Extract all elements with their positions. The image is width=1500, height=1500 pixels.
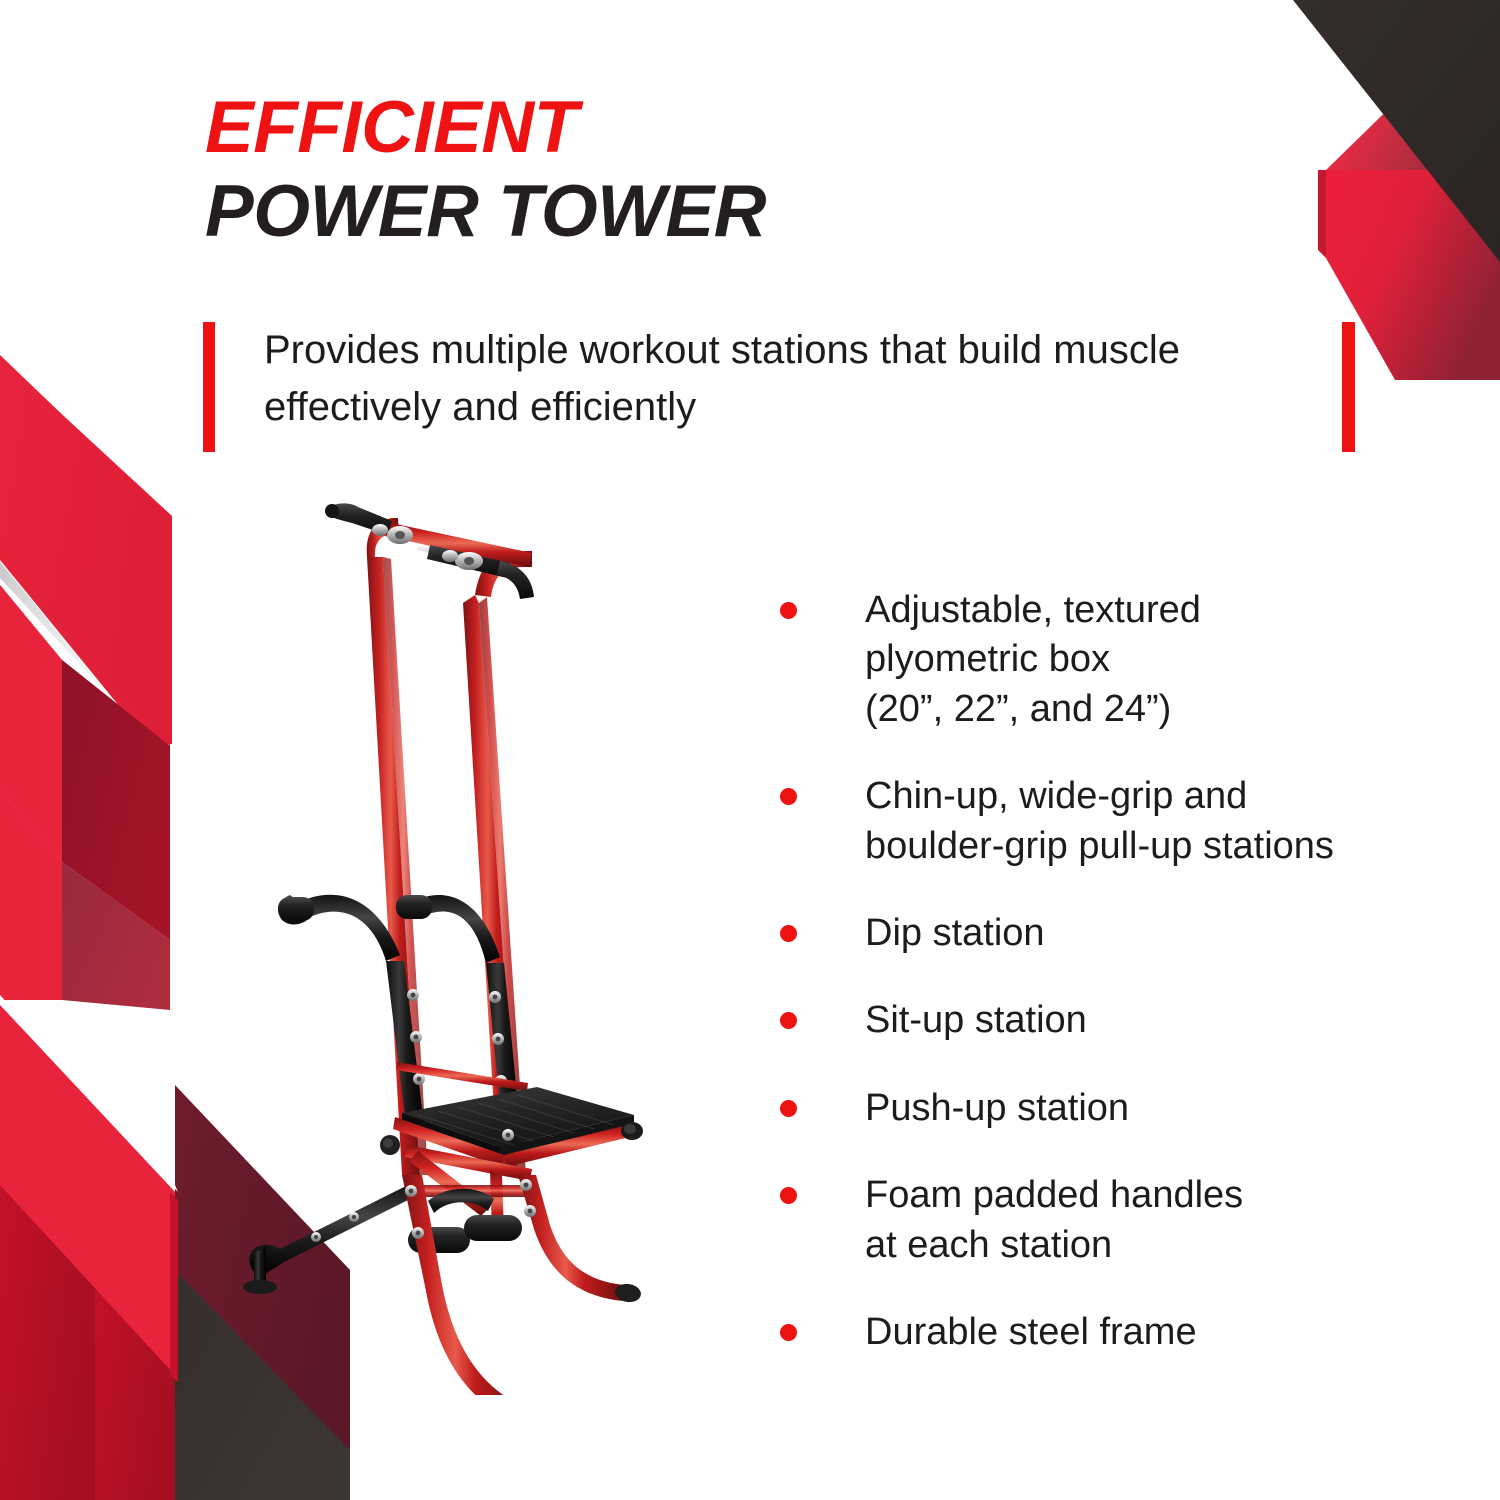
list-item: Dip station: [780, 909, 1440, 958]
top-right-dark-triangle: [1286, 0, 1500, 272]
headline: EFFICIENT POWER TOWER: [205, 88, 1205, 253]
ribbon-gap-highlight: [0, 560, 166, 758]
bullet-icon: [780, 1100, 797, 1117]
bottom-left-bright-red-ribbon: [0, 1005, 178, 1382]
ribbon-gap-shadow: [0, 562, 160, 752]
bullet-icon: [780, 602, 797, 619]
list-item: Sit-up station: [780, 996, 1440, 1045]
right-accent-bar: [1342, 322, 1355, 452]
bullet-icon: [780, 925, 797, 942]
list-item: Chin-up, wide-grip and boulder-grip pull…: [780, 772, 1440, 871]
bullet-icon: [780, 1012, 797, 1029]
left-red-ribbon-continuation: [0, 790, 170, 1010]
list-item: Foam padded handles at each station: [780, 1171, 1440, 1270]
list-item-label: Sit-up station: [865, 996, 1087, 1045]
headline-line-2: POWER TOWER: [205, 172, 1205, 252]
bullet-icon: [780, 1324, 797, 1341]
list-item-label: Dip station: [865, 909, 1045, 958]
list-item-label: Chin-up, wide-grip and boulder-grip pull…: [865, 772, 1334, 871]
left-red-ribbon-upper: [0, 320, 200, 770]
list-item: Adjustable, textured plyometric box (20”…: [780, 586, 1440, 734]
list-item: Durable steel frame: [780, 1308, 1440, 1357]
power-tower-illustration: [232, 485, 712, 1395]
bottom-left-deep-red-band: [0, 1145, 175, 1500]
power-tower-frame: [243, 503, 643, 1395]
list-item: Push-up station: [780, 1084, 1440, 1133]
headline-line-1: EFFICIENT: [205, 88, 1205, 168]
product-feature-banner: EFFICIENT POWER TOWER Provides multiple …: [0, 0, 1500, 1500]
bottom-ribbon-edge-highlight: [0, 995, 178, 1192]
left-dark-red-facet: [62, 660, 170, 940]
subtitle-text: Provides multiple workout stations that …: [264, 322, 1264, 436]
list-item-label: Foam padded handles at each station: [865, 1171, 1243, 1270]
list-item-label: Push-up station: [865, 1084, 1129, 1133]
product-image: [232, 485, 712, 1395]
left-red-ribbon-lower: [0, 585, 62, 862]
subtitle-block: Provides multiple workout stations that …: [203, 322, 1264, 452]
feature-list: Adjustable, textured plyometric box (20”…: [780, 586, 1440, 1357]
subtitle-accent-bar: [203, 322, 215, 452]
list-item-label: Adjustable, textured plyometric box (20”…: [865, 586, 1201, 734]
list-item-label: Durable steel frame: [865, 1308, 1197, 1357]
bullet-icon: [780, 1187, 797, 1204]
bullet-icon: [780, 788, 797, 805]
